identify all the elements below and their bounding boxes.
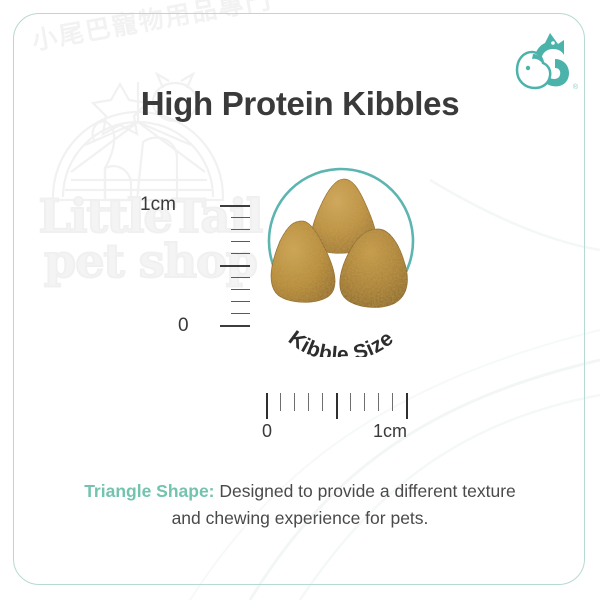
svg-text:Kibble Size: Kibble Size	[284, 326, 398, 357]
vertical-size-ruler: 1cm 0	[140, 205, 250, 340]
horizontal-ruler-tick	[406, 393, 408, 419]
feature-description-highlight: Triangle Shape:	[84, 481, 214, 501]
horizontal-ruler-tick	[350, 393, 351, 411]
vertical-ruler-tick	[220, 325, 250, 327]
kibble-illustration: Kibble Size	[258, 163, 423, 358]
product-feature-card: 小尾巴寵物用品專門 LittleTail	[0, 0, 600, 600]
vertical-ruler-bottom-label: 0	[178, 315, 189, 337]
horizontal-ruler-tick	[336, 393, 338, 419]
horizontal-ruler-tick	[308, 393, 309, 411]
horizontal-ruler-tick	[280, 393, 281, 411]
horizontal-ruler-tick	[392, 393, 393, 411]
horizontal-ruler-tick	[322, 393, 323, 411]
horizontal-ruler-right-label: 1cm	[373, 421, 407, 442]
horizontal-ruler-tick	[378, 393, 379, 411]
feature-description-body: Designed to provide a different texture …	[172, 481, 516, 528]
vertical-ruler-tick	[231, 277, 250, 278]
vertical-ruler-tick	[220, 205, 250, 207]
vertical-ruler-tick	[231, 289, 250, 290]
kibble-size-caption: Kibble Size	[254, 287, 429, 357]
vertical-ruler-tick	[231, 217, 250, 218]
vertical-ruler-top-label: 1cm	[140, 194, 176, 216]
kibble-size-caption-text: Kibble Size	[284, 326, 398, 357]
page-title: High Protein Kibbles	[0, 85, 600, 123]
horizontal-ruler-left-label: 0	[262, 421, 272, 442]
horizontal-ruler-tick	[364, 393, 365, 411]
watermark-chinese-text: 小尾巴寵物用品專門	[29, 0, 276, 57]
cat-and-dog-logo-icon	[514, 30, 572, 92]
feature-description: Triangle Shape: Designed to provide a di…	[70, 478, 530, 532]
vertical-ruler-tick	[231, 253, 250, 254]
vertical-ruler-tick	[220, 265, 250, 267]
vertical-ruler-tick	[231, 301, 250, 302]
vertical-ruler-tick	[231, 313, 250, 314]
horizontal-ruler-tick	[294, 393, 295, 411]
vertical-ruler-tick	[231, 241, 250, 242]
horizontal-ruler-tick	[266, 393, 268, 419]
vertical-ruler-tick	[231, 229, 250, 230]
horizontal-size-ruler: 0 1cm	[266, 393, 416, 443]
